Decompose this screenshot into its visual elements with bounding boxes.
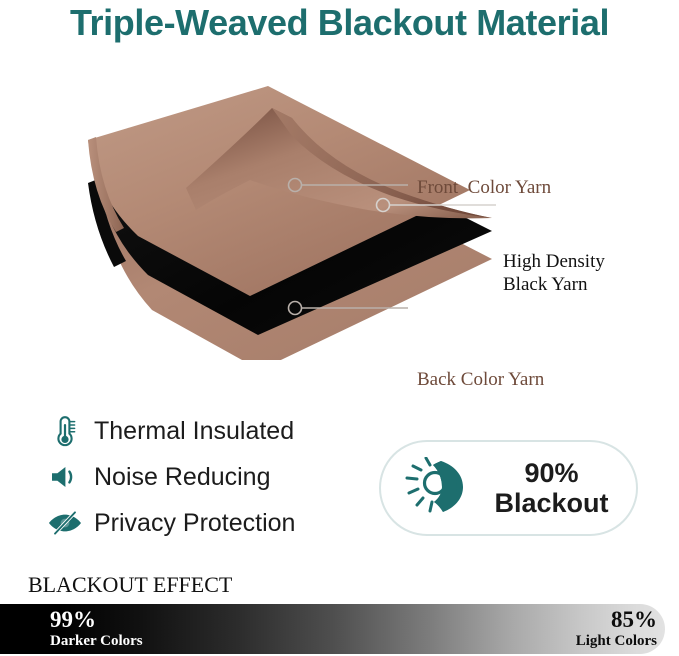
gradient-bar-right-stat: 85% Light Colors: [576, 608, 657, 649]
callout-label-middle-line2: Black Yarn: [503, 274, 587, 295]
blackout-percentage-badge: 90%Blackout: [379, 440, 638, 536]
badge-text: 90%Blackout: [477, 458, 636, 518]
feature-label-thermal-insulated: Thermal Insulated: [94, 417, 294, 446]
feature-label-noise-reducing: Noise Reducing: [94, 463, 271, 492]
badge-caption: Blackout: [494, 488, 608, 518]
feature-list: Thermal Insulated Noise Reducing Privacy…: [44, 408, 374, 546]
fabric-layers-diagram: Front Color Yarn High DensityBlack Yarn …: [0, 70, 679, 360]
fabric-layers-svg: [0, 70, 679, 360]
sun-blocked-icon: [399, 455, 477, 521]
gradient-bar-left-stat: 99% Darker Colors: [50, 608, 143, 649]
feature-item-noise-reducing: Noise Reducing: [44, 454, 374, 500]
gradient-bar-right-caption: Light Colors: [576, 633, 657, 649]
feature-label-privacy-protection: Privacy Protection: [94, 509, 295, 538]
badge-percent: 90%: [524, 458, 578, 488]
feature-item-privacy-protection: Privacy Protection: [44, 500, 374, 546]
eye-slash-icon: [44, 504, 86, 542]
blackout-effect-heading: BLACKOUT EFFECT: [28, 572, 232, 598]
gradient-bar-right-percent: 85%: [576, 608, 657, 633]
thermometer-icon: [44, 412, 86, 450]
speaker-icon: [44, 458, 86, 496]
callout-label-front: Front Color Yarn: [417, 176, 551, 199]
feature-item-thermal-insulated: Thermal Insulated: [44, 408, 374, 454]
page-title: Triple-Weaved Blackout Material: [0, 2, 679, 44]
callout-label-middle: High DensityBlack Yarn: [503, 250, 605, 296]
gradient-bar-left-percent: 99%: [50, 608, 143, 633]
gradient-bar-left-caption: Darker Colors: [50, 633, 143, 649]
callout-label-middle-line1: High Density: [503, 251, 605, 272]
callout-label-back: Back Color Yarn: [417, 368, 544, 391]
